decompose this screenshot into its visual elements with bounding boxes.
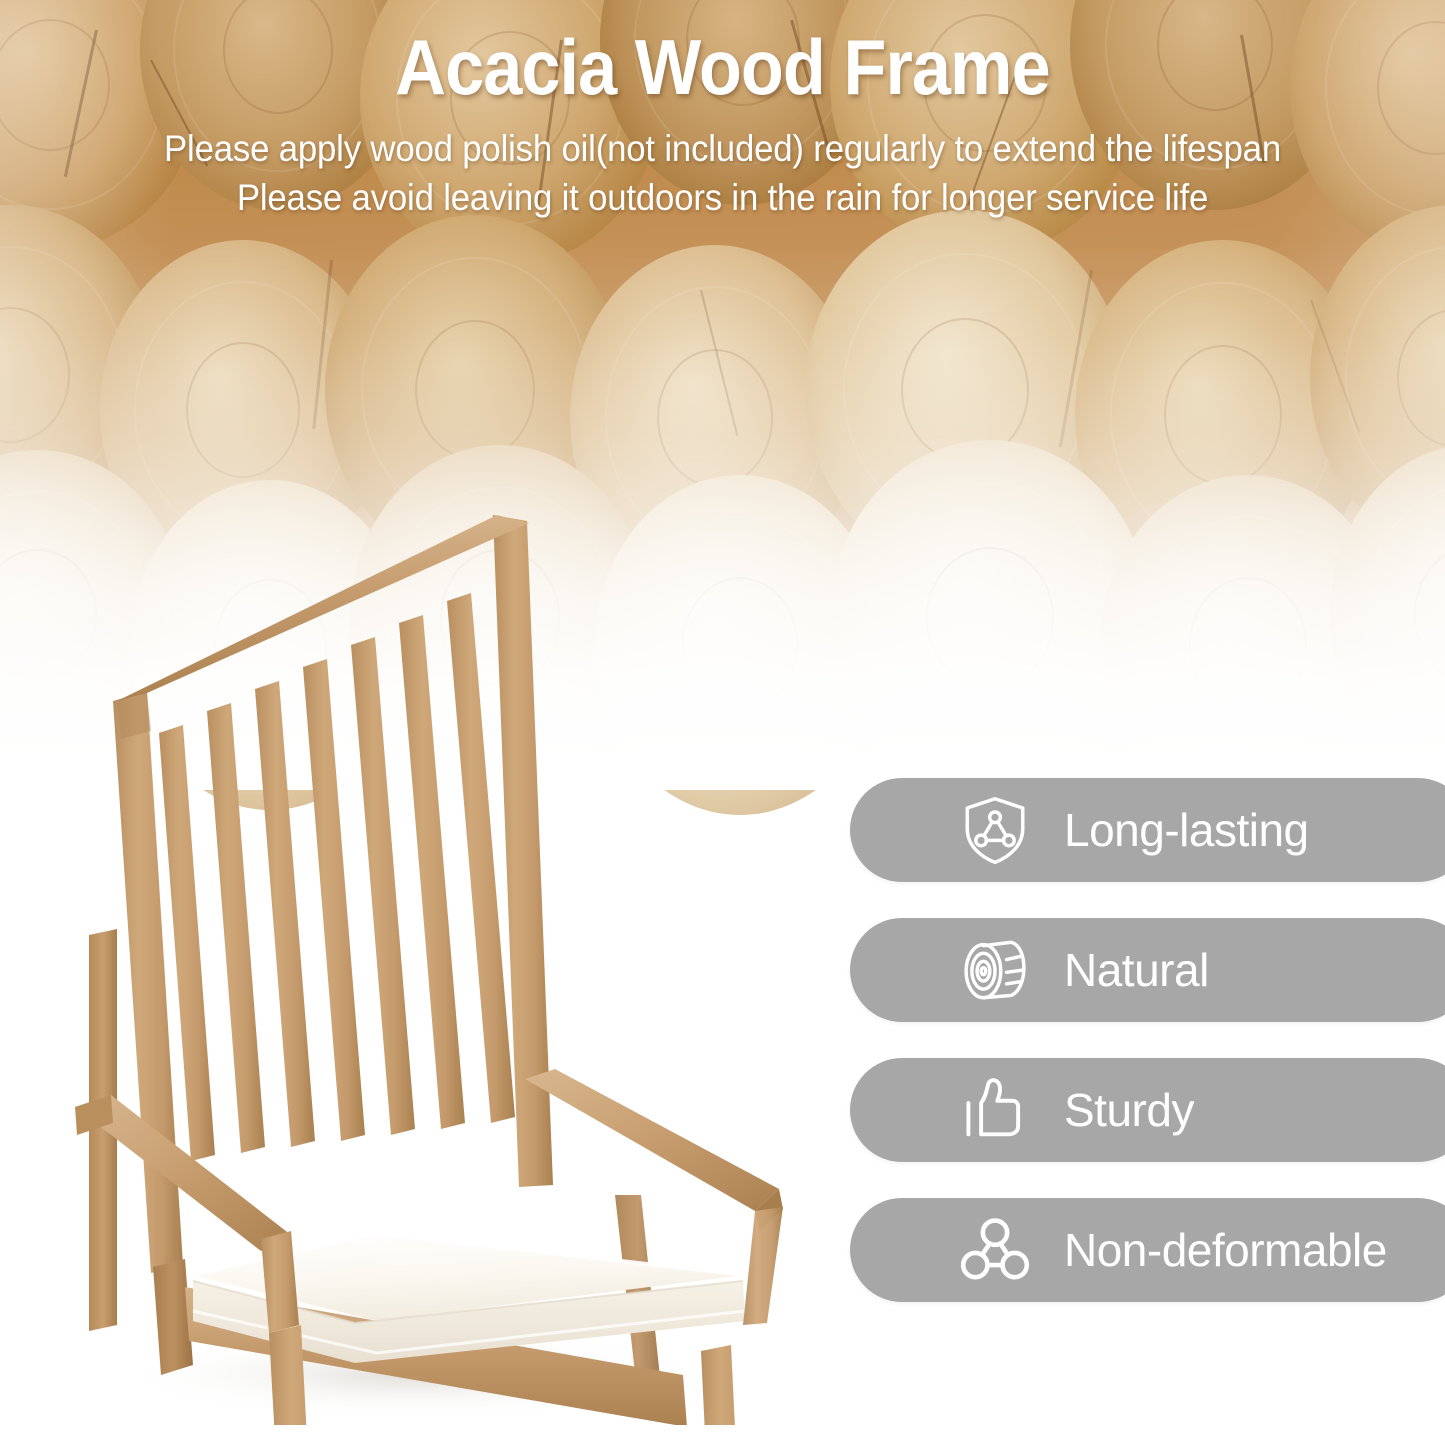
feature-pill-long-lasting[interactable]: Long-lasting <box>850 778 1445 882</box>
feature-label-natural: Natural <box>1064 945 1209 995</box>
page-title: Acacia Wood Frame <box>72 24 1373 110</box>
feature-pill-list: Long-lasting N <box>850 778 1445 1338</box>
feature-label-sturdy: Sturdy <box>1064 1085 1194 1135</box>
feature-label-long-lasting: Long-lasting <box>1064 805 1309 855</box>
three-circles-icon <box>956 1211 1034 1289</box>
feature-label-non-deformable: Non-deformable <box>1064 1225 1387 1275</box>
log-rings-icon <box>956 931 1034 1009</box>
feature-pill-non-deformable[interactable]: Non-deformable <box>850 1198 1445 1302</box>
subtitle-line-1: Please apply wood polish oil(not include… <box>43 124 1401 173</box>
product-feature-banner: Acacia Wood Frame Please apply wood poli… <box>0 0 1445 1445</box>
product-image-chair <box>55 495 795 1425</box>
feature-pill-natural[interactable]: Natural <box>850 918 1445 1022</box>
thumbs-up-icon <box>956 1071 1034 1149</box>
shield-molecule-icon <box>956 791 1034 869</box>
feature-pill-sturdy[interactable]: Sturdy <box>850 1058 1445 1162</box>
header-block: Acacia Wood Frame Please apply wood poli… <box>0 24 1445 222</box>
subtitle-line-2: Please avoid leaving it outdoors in the … <box>43 173 1401 222</box>
